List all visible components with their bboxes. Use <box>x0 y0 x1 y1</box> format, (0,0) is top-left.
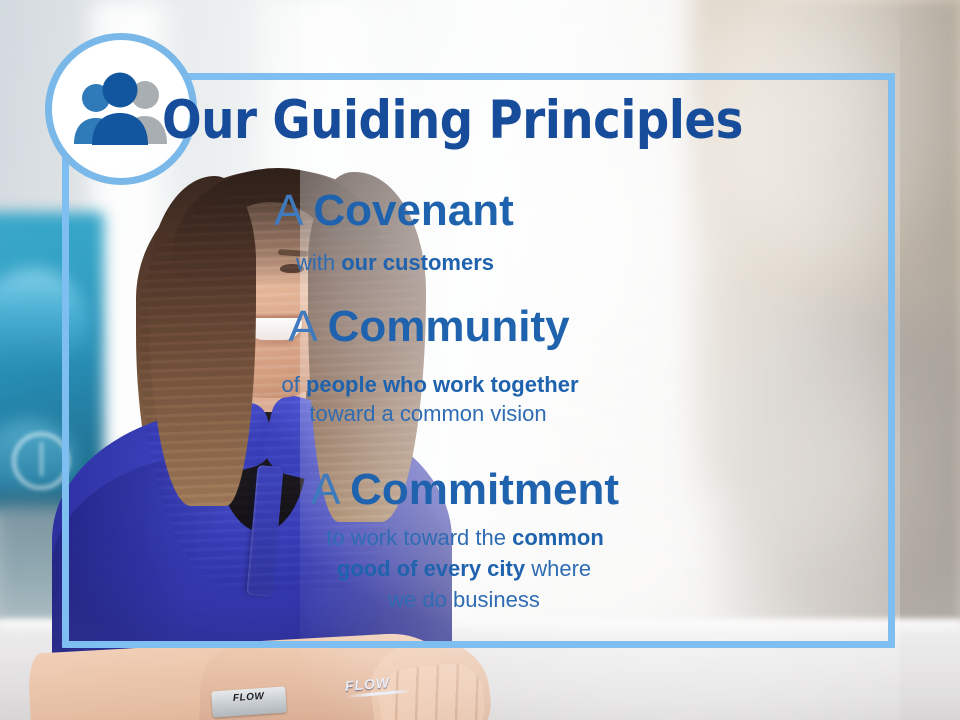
principle-article-covenant: A <box>274 186 313 235</box>
detail-text: where <box>525 556 591 581</box>
principle-keyword-covenant: Covenant <box>313 186 513 235</box>
detail-text-bold: common <box>512 525 604 550</box>
principle-detail-community-line-2: toward a common vision <box>0 399 856 428</box>
principle-keyword-community: Community <box>328 302 570 351</box>
guiding-principles-graphic: FLOW FLOW <box>0 0 960 720</box>
principle-keyword-commitment: Commitment <box>350 465 619 514</box>
principle-detail-covenant-line-1: with our customers <box>0 248 790 277</box>
principle-headline-covenant: A Covenant <box>0 186 788 236</box>
detail-text-bold: our customers <box>341 250 494 275</box>
detail-text: with <box>296 250 341 275</box>
text-content: Our Guiding Principles A Covenant with o… <box>0 0 960 720</box>
principle-article-community: A <box>288 302 327 351</box>
page-title: Our Guiding Principles <box>54 92 850 150</box>
principle-detail-community-line-1: of people who work together <box>0 370 860 399</box>
detail-text: toward a common vision <box>309 401 546 426</box>
detail-text: of <box>281 372 305 397</box>
principle-headline-commitment: A Commitment <box>0 465 930 515</box>
principle-detail-commitment-line-2: good of every city where <box>0 554 928 583</box>
principle-article-commitment: A <box>311 465 350 514</box>
principle-detail-commitment-line-3: we do business <box>0 585 928 614</box>
detail-text-bold: good of every city <box>337 556 525 581</box>
detail-text: we do business <box>388 587 540 612</box>
detail-text: to work toward the <box>326 525 512 550</box>
detail-text-bold: people who work together <box>306 372 579 397</box>
principle-headline-community: A Community <box>0 302 858 352</box>
principle-detail-commitment-line-1: to work toward the common <box>0 523 930 552</box>
